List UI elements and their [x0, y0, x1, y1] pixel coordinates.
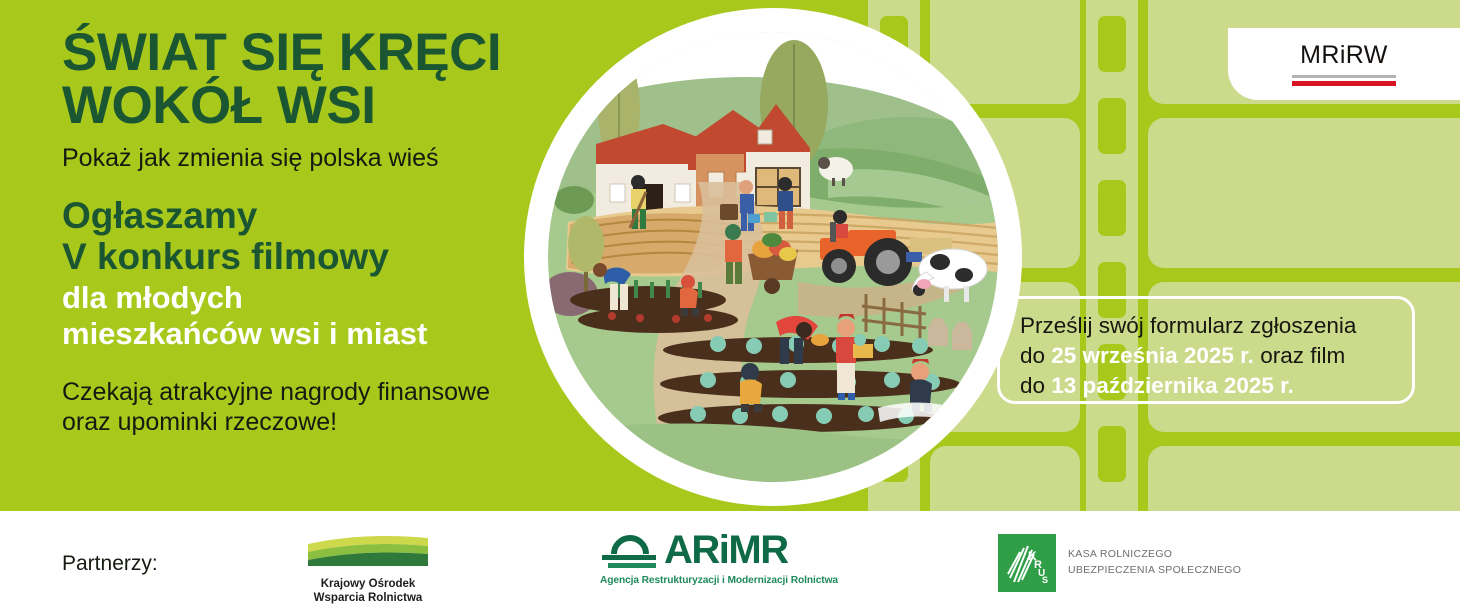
poster-banner: ŚWIAT SIĘ KRĘCI WOKÓŁ WSI Pokaż jak zmie…: [0, 0, 1460, 616]
text-column: ŚWIAT SIĘ KRĘCI WOKÓŁ WSI Pokaż jak zmie…: [62, 26, 562, 438]
target-audience-line-1: dla młodych: [62, 280, 243, 315]
deadline-date-film: 13 października 2025 r.: [1051, 373, 1294, 398]
headline-line-2: WOKÓŁ WSI: [62, 79, 562, 132]
kowr-line-1: Krajowy Ośrodek: [304, 577, 432, 591]
film-frame: [1148, 118, 1460, 268]
film-hole: [1098, 426, 1126, 482]
krus-line-2: UBEZPIECZENIA SPOŁECZNEGO: [1068, 563, 1241, 579]
prizes-line-2: oraz upominki rzeczowe!: [62, 407, 562, 438]
kowr-logo: Krajowy Ośrodek Wsparcia Rolnictwa: [304, 534, 432, 596]
film-hole: [1098, 98, 1126, 154]
village-illustration: [548, 32, 998, 482]
film-frame: [1148, 446, 1460, 511]
headline-line-1: ŚWIAT SIĘ KRĘCI: [62, 23, 501, 82]
announcement: Ogłaszamy V konkurs filmowy: [62, 195, 562, 278]
prizes-line-1: Czekają atrakcyjne nagrody finansowe: [62, 378, 490, 406]
film-hole: [1098, 180, 1126, 236]
subheadline: Pokaż jak zmienia się polska wieś: [62, 144, 562, 173]
krus-mark-icon: K R U S: [998, 534, 1056, 592]
target-audience-line-2: mieszkańców wsi i miast: [62, 316, 562, 353]
arimr-logo: ARiMR Agencja Restrukturyzacji i Moderni…: [600, 528, 832, 590]
target-audience: dla młodych mieszkańców wsi i miast: [62, 280, 562, 353]
poster-stage: ŚWIAT SIĘ KRĘCI WOKÓŁ WSI Pokaż jak zmie…: [0, 0, 1460, 511]
svg-text:S: S: [1042, 575, 1048, 585]
arimr-row: ARiMR: [600, 528, 832, 572]
arimr-wordmark: ARiMR: [664, 530, 788, 570]
deadline-callout: Prześlij swój formularz zgłoszenia do 25…: [997, 296, 1415, 404]
announcement-line-2: V konkurs filmowy: [62, 236, 562, 277]
krus-name: KASA ROLNICZEGO UBEZPIECZENIA SPOŁECZNEG…: [1068, 547, 1241, 579]
mrirw-red-bar: [1292, 81, 1396, 86]
announcement-line-1: Ogłaszamy: [62, 195, 257, 236]
krus-line-1: KASA ROLNICZEGO: [1068, 547, 1241, 563]
arimr-subtitle: Agencja Restrukturyzacji i Modernizacji …: [600, 575, 832, 586]
deadline-line-2: do 25 września 2025 r. oraz film: [1020, 341, 1394, 371]
film-frame: [930, 446, 1080, 511]
film-hole: [1098, 16, 1126, 72]
mrirw-wordmark: MRiRW: [1300, 43, 1388, 68]
partners-label: Partnerzy:: [62, 552, 158, 576]
deadline-prefix: do: [1020, 343, 1051, 368]
deadline-date-form: 25 września 2025 r.: [1051, 343, 1254, 368]
arimr-arch-icon: [600, 528, 660, 572]
page-title: ŚWIAT SIĘ KRĘCI WOKÓŁ WSI: [62, 26, 562, 132]
mrirw-gray-bar: [1292, 75, 1396, 78]
deadline-line-3: do 13 października 2025 r.: [1020, 371, 1394, 401]
kowr-waves-icon: [304, 534, 432, 570]
deadline-prefix-2: do: [1020, 373, 1051, 398]
krus-logo: K R U S KASA ROLNICZEGO UBEZPIECZENIA SP…: [998, 534, 1241, 592]
deadline-suffix: oraz film: [1254, 343, 1345, 368]
mrirw-logo: MRiRW: [1228, 28, 1460, 100]
prizes-note: Czekają atrakcyjne nagrody finansowe ora…: [62, 377, 562, 438]
kowr-line-2: Wsparcia Rolnictwa: [304, 591, 432, 605]
kowr-name: Krajowy Ośrodek Wsparcia Rolnictwa: [304, 577, 432, 606]
deadline-line-1: Prześlij swój formularz zgłoszenia: [1020, 311, 1394, 341]
